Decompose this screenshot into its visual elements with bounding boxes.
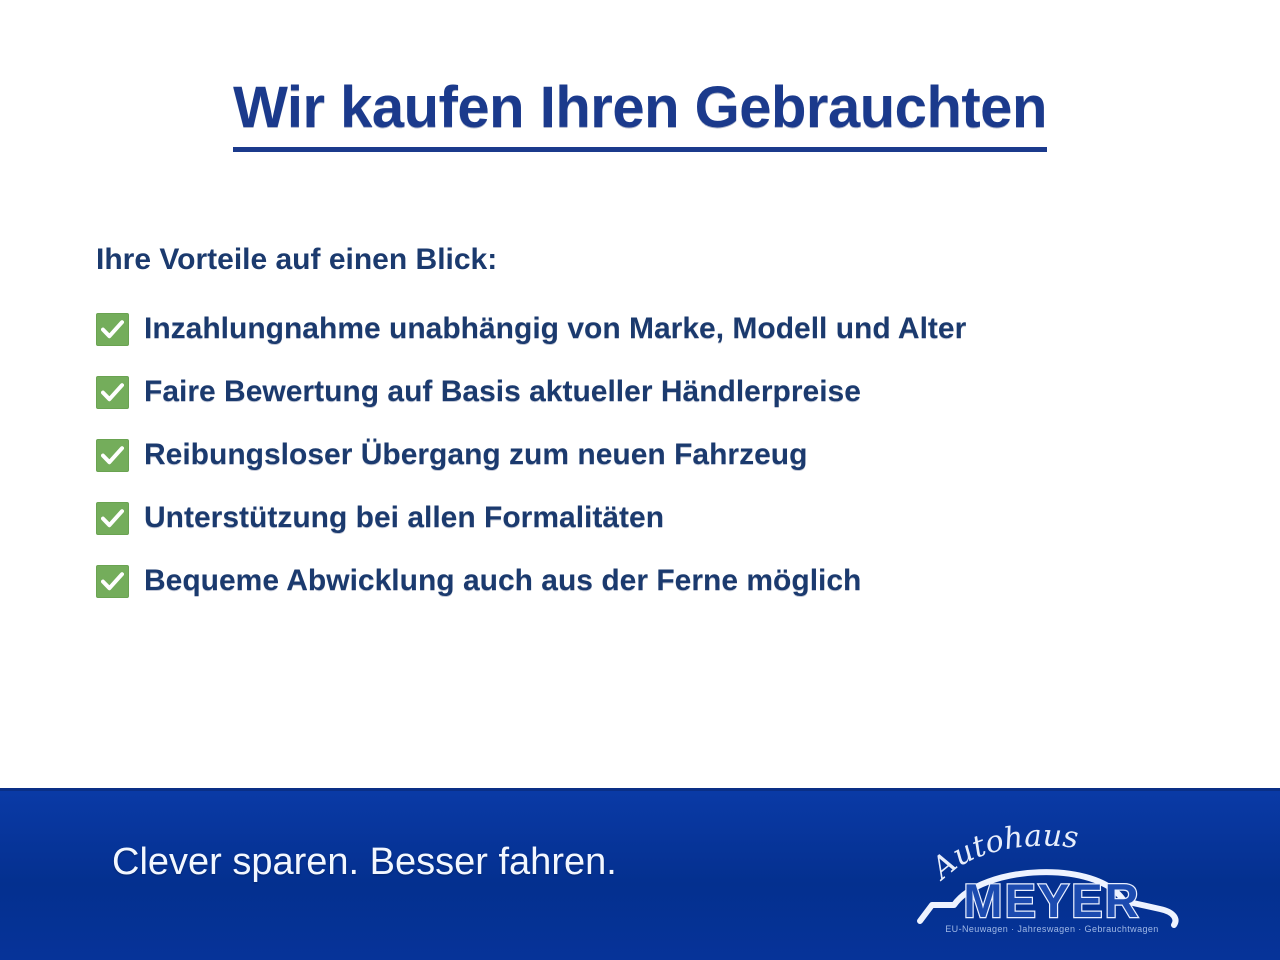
green-check-icon [96,376,129,409]
page-title: Wir kaufen Ihren Gebrauchten [233,78,1047,152]
green-check-icon [96,439,129,472]
logo-brand-text: MEYER [963,874,1140,927]
benefit-label: Faire Bewertung auf Basis aktueller Händ… [144,377,861,407]
footer-bar: Clever sparen. Besser fahren. Autohaus M… [0,788,1280,960]
benefit-label: Reibungsloser Übergang zum neuen Fahrzeu… [144,440,807,470]
green-check-icon [96,502,129,535]
benefit-label: Unterstützung bei allen Formalitäten [144,503,664,533]
list-item: Faire Bewertung auf Basis aktueller Händ… [96,370,1216,414]
benefit-label: Inzahlungnahme unabhängig von Marke, Mod… [144,314,966,344]
footer-slogan: Clever sparen. Besser fahren. [112,841,617,884]
green-check-icon [96,565,129,598]
promotional-slide: Wir kaufen Ihren Gebrauchten Ihre Vortei… [0,0,1280,960]
logo-tagline: EU-Neuwagen · Jahreswagen · Gebrauchtwag… [945,924,1158,934]
list-item: Bequeme Abwicklung auch aus der Ferne mö… [96,559,1216,603]
headline-container: Wir kaufen Ihren Gebrauchten [0,78,1280,152]
dealer-logo: Autohaus MEYER EU-Neuwagen · Jahreswagen… [912,809,1192,939]
list-item: Unterstützung bei allen Formalitäten [96,496,1216,540]
benefits-list: Inzahlungnahme unabhängig von Marke, Mod… [96,307,1216,622]
green-check-icon [96,313,129,346]
benefit-label: Bequeme Abwicklung auch aus der Ferne mö… [144,566,861,596]
list-item: Reibungsloser Übergang zum neuen Fahrzeu… [96,433,1216,477]
list-item: Inzahlungnahme unabhängig von Marke, Mod… [96,307,1216,351]
benefits-subheading: Ihre Vorteile auf einen Blick: [96,243,497,277]
